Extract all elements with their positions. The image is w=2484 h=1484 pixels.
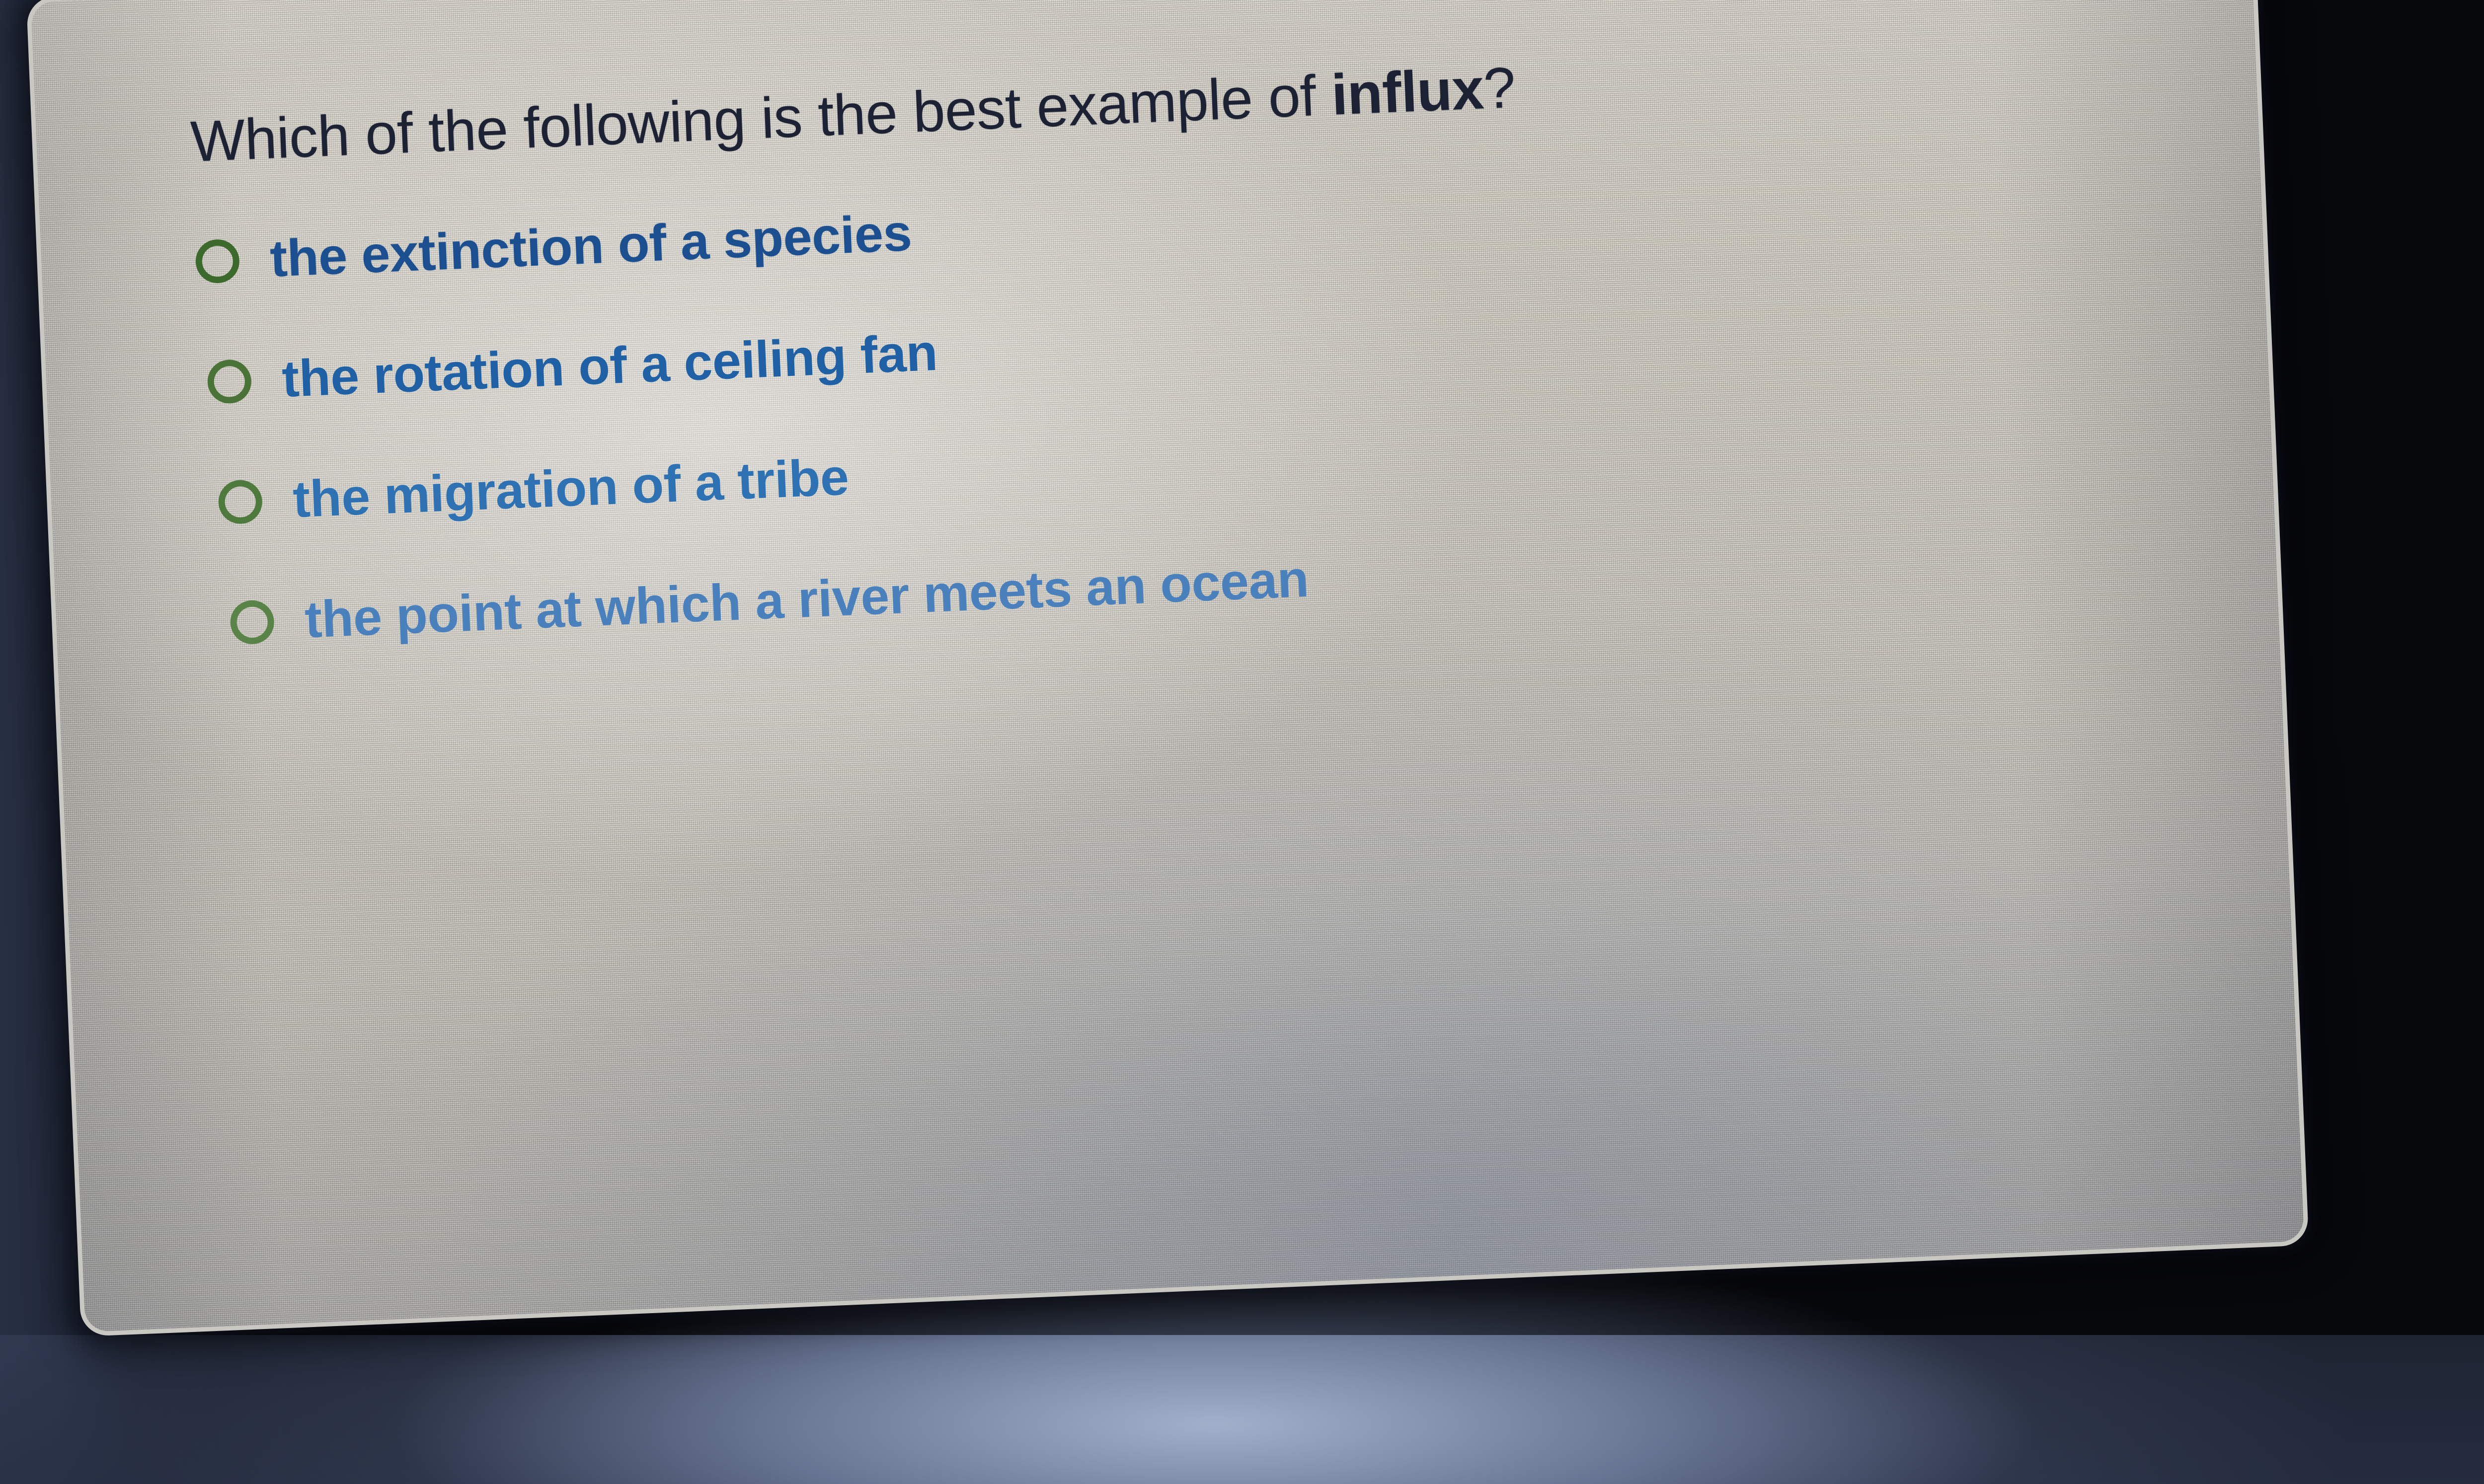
radio-unselected-icon[interactable] — [207, 359, 252, 405]
answer-option-b[interactable]: the rotation of a ceiling fan — [206, 274, 2143, 412]
question-emphasis-word: influx — [1330, 56, 1485, 127]
answer-option-b-label: the rotation of a ceiling fan — [281, 323, 938, 409]
radio-unselected-icon[interactable] — [218, 479, 263, 525]
question-text: Which of the following is the best examp… — [189, 30, 2133, 174]
quiz-content: Which of the following is the best examp… — [31, 0, 2304, 1332]
quiz-card: Which of the following is the best examp… — [26, 0, 2309, 1336]
question-prefix: Which of the following is the best examp… — [189, 63, 1333, 174]
radio-unselected-icon[interactable] — [195, 239, 240, 285]
screen-card-wrapper: Which of the following is the best examp… — [0, 0, 2333, 1419]
radio-unselected-icon[interactable] — [230, 599, 275, 645]
answer-option-d[interactable]: the point at which a river meets an ocea… — [229, 515, 2153, 653]
answer-option-c[interactable]: the migration of a tribe — [217, 394, 2148, 532]
answer-option-d-label: the point at which a river meets an ocea… — [304, 550, 1310, 650]
answer-option-a-label: the extinction of a species — [269, 204, 913, 289]
question-suffix: ? — [1482, 55, 1517, 121]
answer-option-c-label: the migration of a tribe — [292, 447, 850, 529]
answer-option-a[interactable]: the extinction of a species — [194, 153, 2138, 292]
